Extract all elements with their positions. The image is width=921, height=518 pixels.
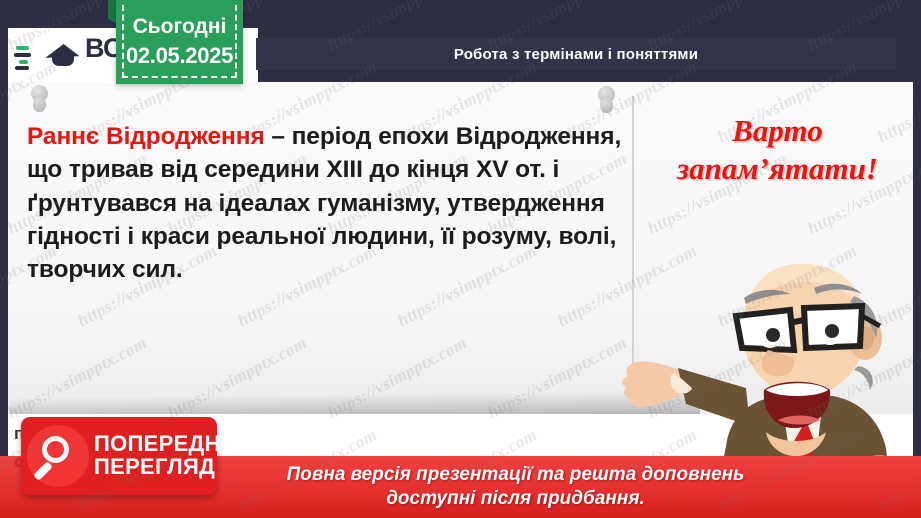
slide-header-bar: Робота з термінами і поняттями bbox=[256, 38, 896, 70]
bottom-notice-line-2: доступні після придбання. bbox=[287, 487, 745, 511]
date-value: 02.05.2025 bbox=[126, 43, 233, 69]
preview-badge-labels: ПОПЕРЕДНІЙ ПЕРЕГЛЯД bbox=[94, 433, 243, 479]
date-label: Сьогодні bbox=[133, 15, 227, 39]
graduation-cap-icon bbox=[46, 40, 80, 70]
pushpin-icon bbox=[596, 86, 617, 116]
definition-text: Раннє Відродження – період епохи Відродж… bbox=[27, 120, 622, 287]
remember-line-2: запам’ятати! bbox=[640, 150, 915, 188]
date-badge: Сьогодні 02.05.2025 bbox=[116, 0, 243, 84]
pushpin-icon bbox=[29, 85, 50, 115]
remember-line-1: Варто bbox=[640, 112, 915, 150]
term-name: Раннє Відродження bbox=[27, 123, 265, 150]
preview-badge[interactable]: ПОПЕРЕДНІЙ ПЕРЕГЛЯД bbox=[21, 417, 217, 495]
bottom-notice-line-1: Повна версія презентації та решта доповн… bbox=[287, 463, 745, 487]
preview-badge-line-2: ПЕРЕГЛЯД bbox=[94, 456, 243, 479]
page-title: Робота з термінами і поняттями bbox=[454, 46, 698, 63]
speed-lines-icon bbox=[14, 40, 44, 70]
bottom-notice-text: Повна версія презентації та решта доповн… bbox=[287, 463, 745, 512]
magnifier-icon bbox=[27, 425, 89, 487]
presentation-slide: ВСІМ pptx Сьогодні 02.05.2025 Робота з т… bbox=[0, 0, 921, 518]
remember-note: Варто запам’ятати! bbox=[640, 112, 915, 188]
cartoon-professor-illustration bbox=[618, 238, 921, 488]
preview-badge-line-1: ПОПЕРЕДНІЙ bbox=[94, 433, 243, 456]
